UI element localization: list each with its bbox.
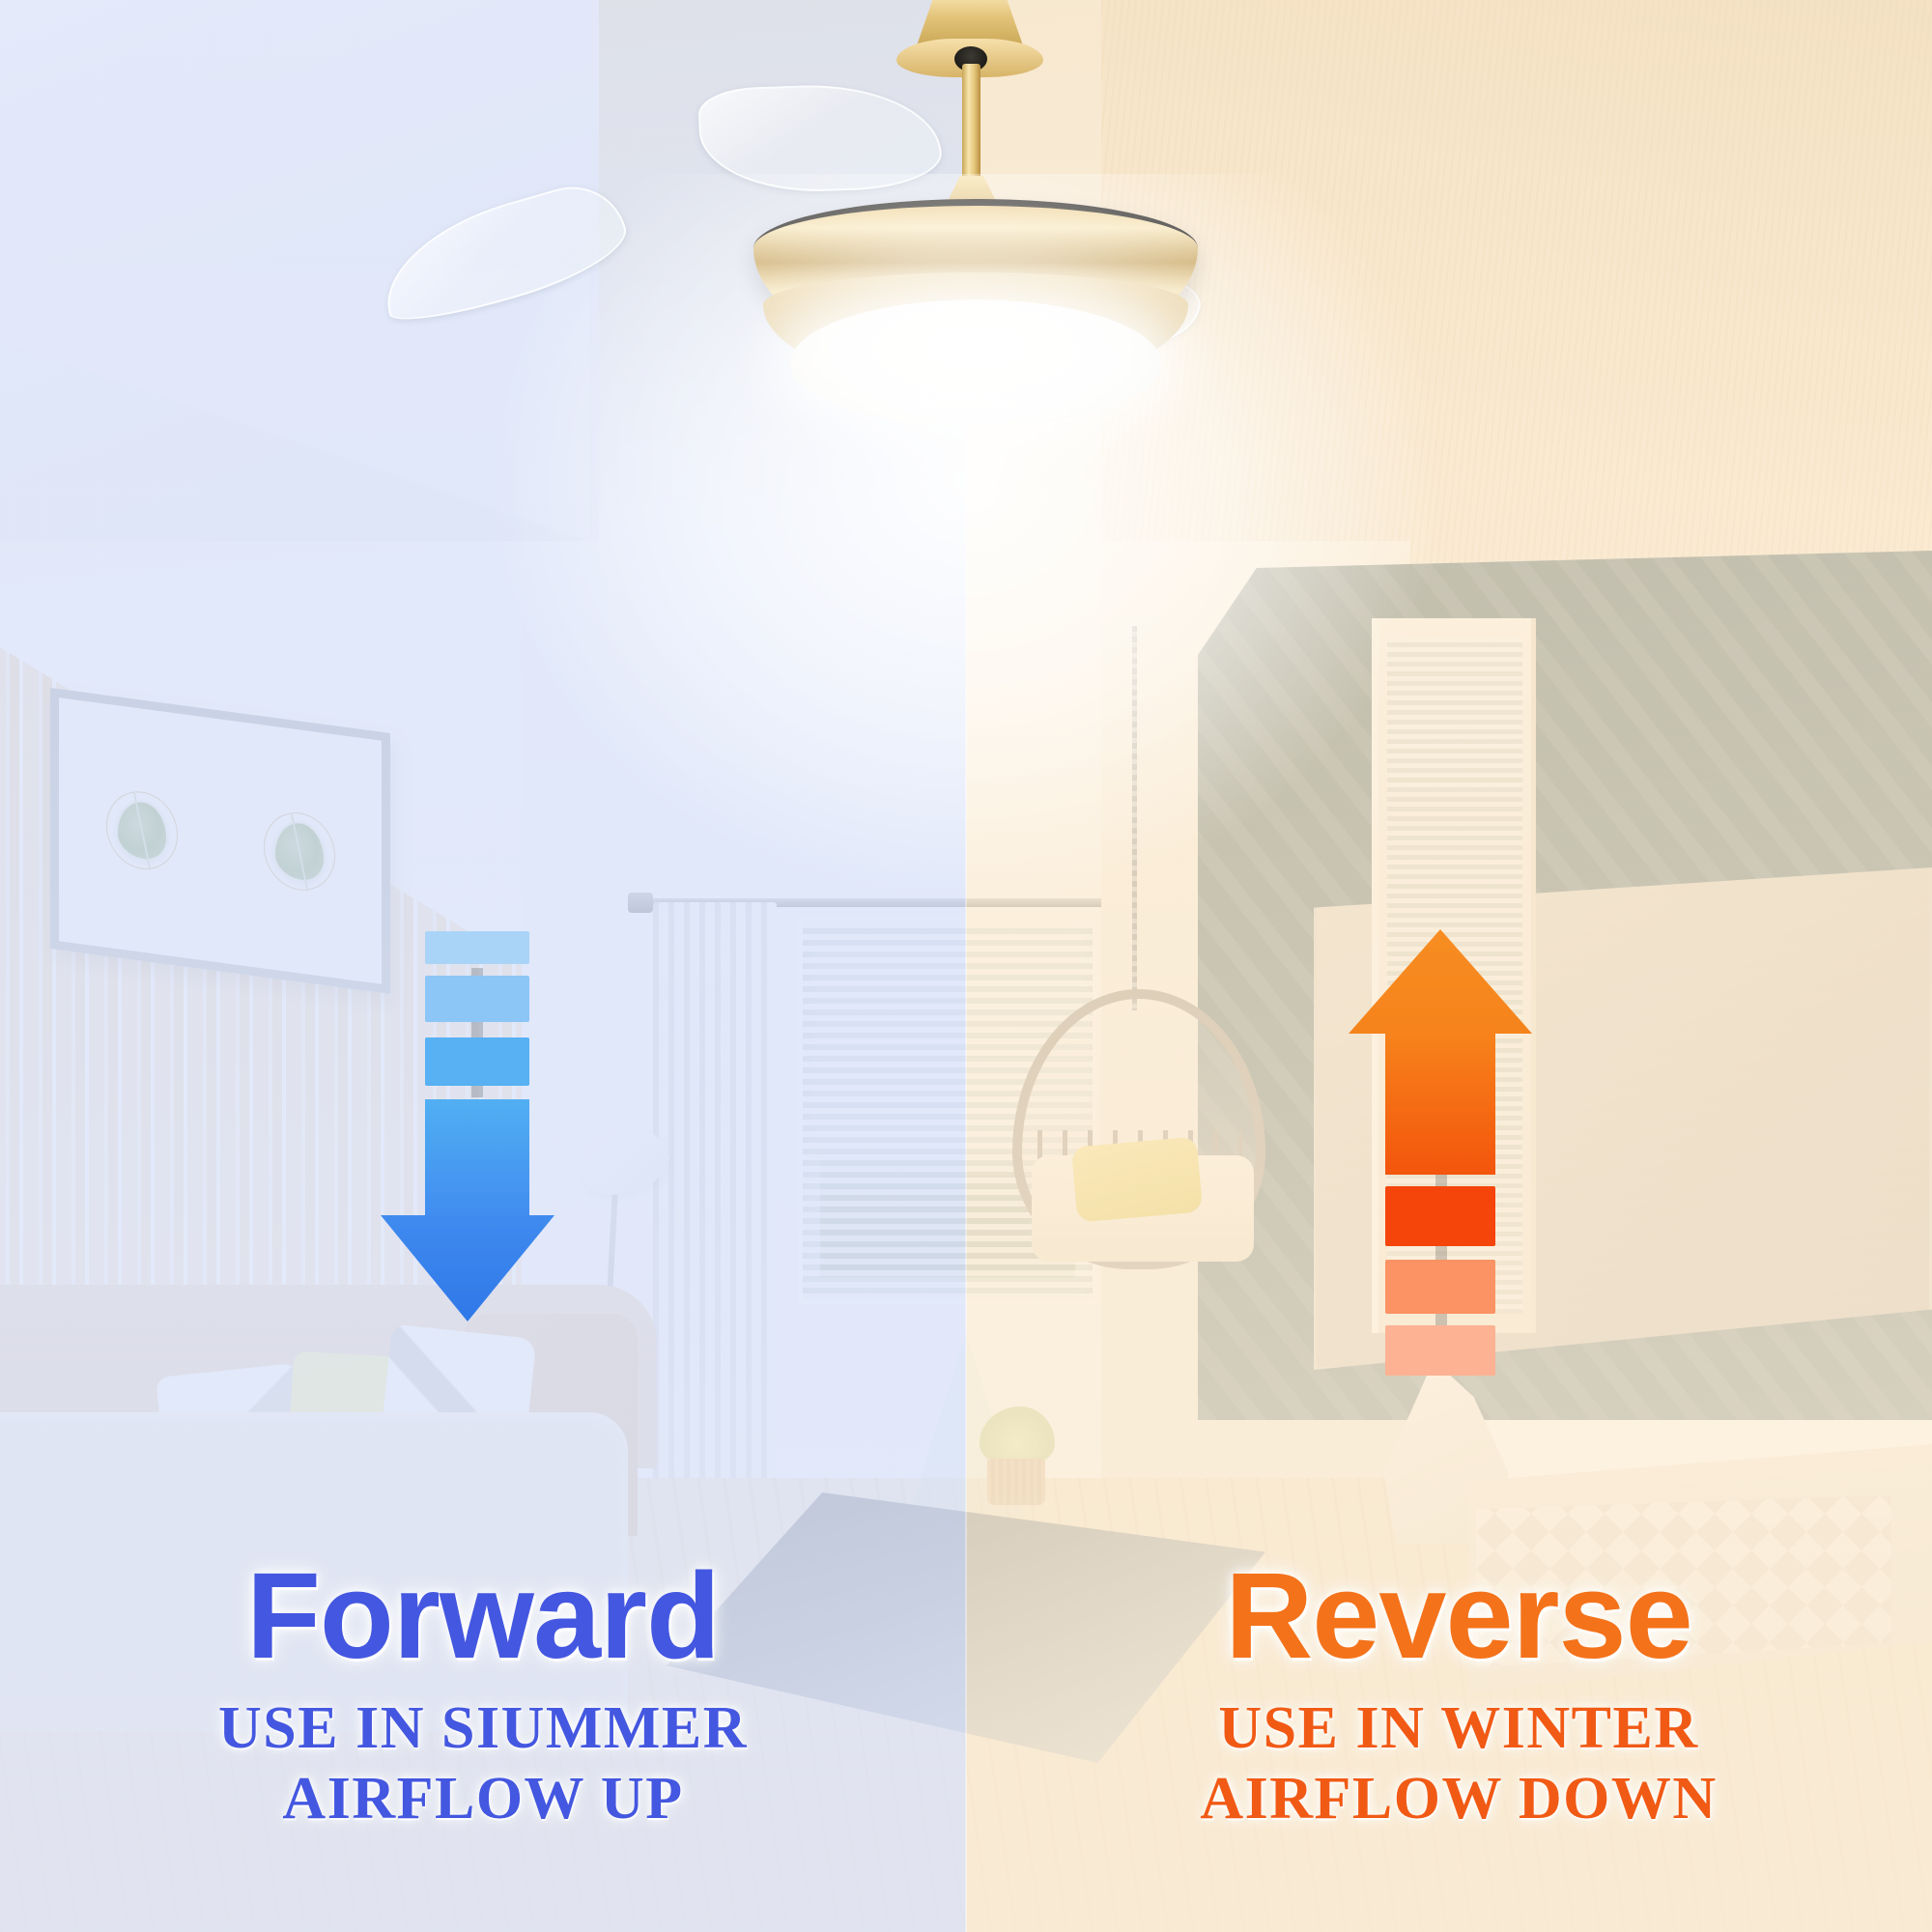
- airflow-segment-2-left: [425, 976, 529, 1022]
- reverse-mode-label: Reverse USE IN WINTER AIRFLOW DOWN: [1014, 1555, 1903, 1833]
- airflow-shaft-right: [1385, 1030, 1495, 1175]
- airflow-segment-1-right: [1385, 1186, 1495, 1246]
- fan-blade-upper: [697, 81, 943, 196]
- forward-subline-1: USE IN SIUMMER: [39, 1694, 927, 1763]
- airflow-segment-1-left: [425, 931, 529, 964]
- downward-airflow-arrow: [415, 925, 589, 1331]
- forward-subline-2: AIRFLOW UP: [39, 1765, 927, 1833]
- retractable-blade-ceiling-fan: [483, 0, 1449, 446]
- reverse-subline-1: USE IN WINTER: [1014, 1694, 1903, 1763]
- upward-airflow-arrow: [1349, 925, 1542, 1331]
- reverse-subline-2: AIRFLOW DOWN: [1014, 1765, 1903, 1833]
- reverse-heading: Reverse: [1014, 1555, 1903, 1677]
- fan-led-light-panel: [790, 299, 1161, 427]
- airflow-segment-2-right: [1385, 1260, 1495, 1314]
- airflow-shaft-left: [425, 1099, 529, 1235]
- forward-mode-label: Forward USE IN SIUMMER AIRFLOW UP: [39, 1555, 927, 1833]
- airflow-segment-3-left: [425, 1037, 529, 1086]
- infographic-canvas: Forward USE IN SIUMMER AIRFLOW UP Revers…: [0, 0, 1932, 1932]
- airflow-arrowhead-right: [1349, 929, 1532, 1034]
- airflow-segment-3-right: [1385, 1325, 1495, 1376]
- forward-heading: Forward: [39, 1555, 927, 1677]
